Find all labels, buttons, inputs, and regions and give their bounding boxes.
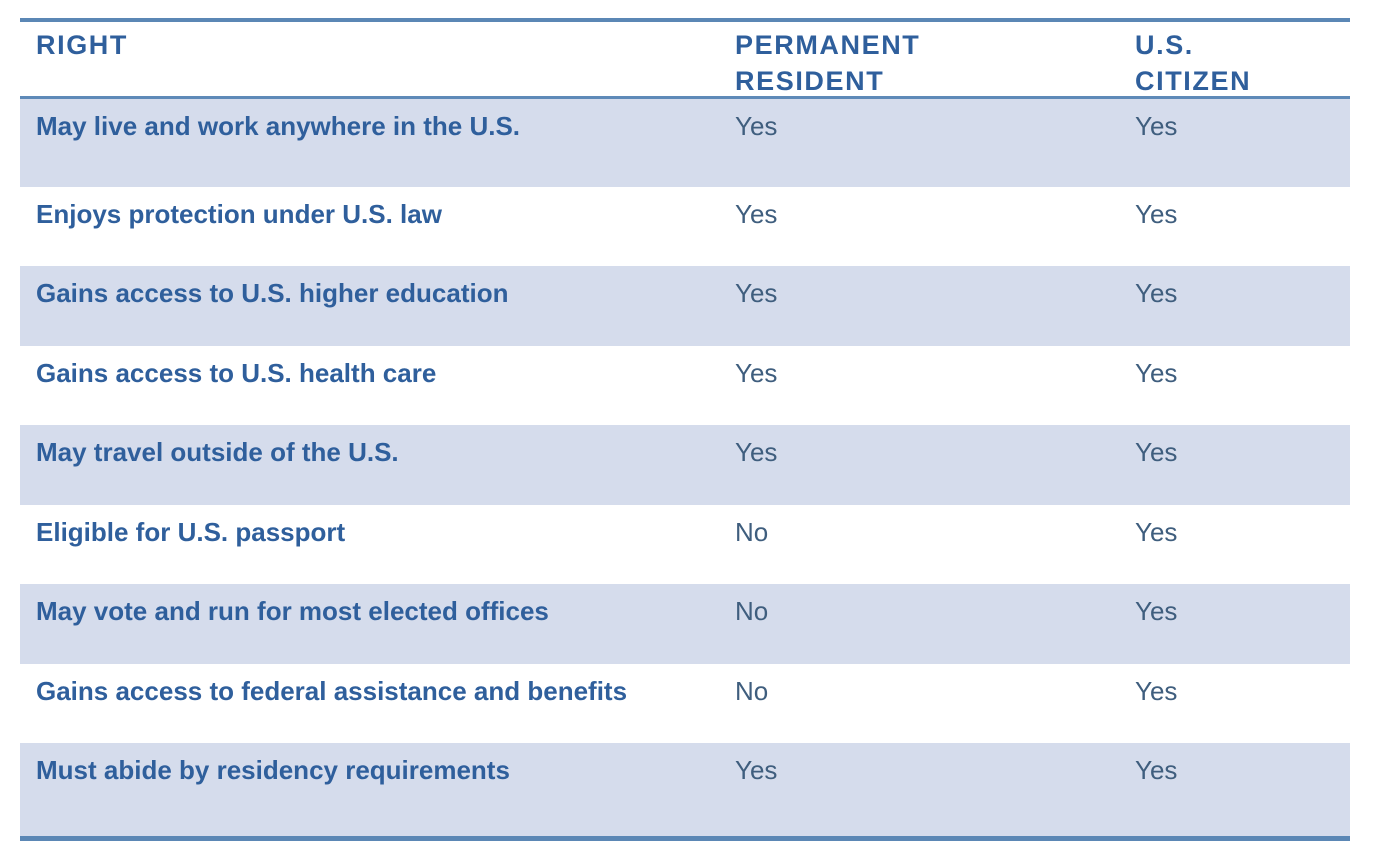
table-bottom-rule bbox=[20, 836, 1350, 841]
row-value-us-citizen: Yes bbox=[1120, 99, 1350, 142]
row-label: Gains access to U.S. higher education bbox=[20, 266, 720, 309]
column-header-permanent-resident: PERMANENT RESIDENT bbox=[720, 22, 1120, 96]
row-label: Must abide by residency requirements bbox=[20, 743, 720, 786]
row-label: May vote and run for most elected office… bbox=[20, 584, 720, 627]
row-value-us-citizen: Yes bbox=[1120, 266, 1350, 309]
table-row: Must abide by residency requirements Yes… bbox=[20, 743, 1350, 836]
row-label: May live and work anywhere in the U.S. bbox=[20, 99, 720, 142]
table-body: May live and work anywhere in the U.S. Y… bbox=[20, 99, 1350, 836]
table-row: Gains access to U.S. health care Yes Yes bbox=[20, 346, 1350, 425]
row-value-permanent-resident: Yes bbox=[720, 187, 1120, 230]
column-header-us-citizen: U.S. CITIZEN bbox=[1120, 22, 1350, 96]
column-header-right: RIGHT bbox=[20, 22, 720, 96]
column-header-us-citizen-line2: CITIZEN bbox=[1135, 64, 1350, 100]
row-value-permanent-resident: Yes bbox=[720, 346, 1120, 389]
row-value-permanent-resident: No bbox=[720, 584, 1120, 627]
rights-comparison-table: RIGHT PERMANENT RESIDENT U.S. CITIZEN Ma… bbox=[20, 18, 1350, 841]
row-value-us-citizen: Yes bbox=[1120, 505, 1350, 548]
row-value-us-citizen: Yes bbox=[1120, 187, 1350, 230]
table-row: May travel outside of the U.S. Yes Yes bbox=[20, 425, 1350, 505]
row-value-permanent-resident: Yes bbox=[720, 743, 1120, 786]
row-value-permanent-resident: Yes bbox=[720, 99, 1120, 142]
row-label: Gains access to U.S. health care bbox=[20, 346, 720, 389]
table-row: Gains access to federal assistance and b… bbox=[20, 664, 1350, 743]
table-row: May vote and run for most elected office… bbox=[20, 584, 1350, 664]
row-value-permanent-resident: No bbox=[720, 505, 1120, 548]
table-row: Gains access to U.S. higher education Ye… bbox=[20, 266, 1350, 346]
column-header-permanent-resident-line1: PERMANENT bbox=[735, 28, 1120, 64]
page-root: RIGHT PERMANENT RESIDENT U.S. CITIZEN Ma… bbox=[0, 0, 1394, 841]
row-value-us-citizen: Yes bbox=[1120, 743, 1350, 786]
table-row: Eligible for U.S. passport No Yes bbox=[20, 505, 1350, 584]
row-value-us-citizen: Yes bbox=[1120, 346, 1350, 389]
table-row: May live and work anywhere in the U.S. Y… bbox=[20, 99, 1350, 187]
row-value-us-citizen: Yes bbox=[1120, 425, 1350, 468]
row-value-us-citizen: Yes bbox=[1120, 584, 1350, 627]
table-row: Enjoys protection under U.S. law Yes Yes bbox=[20, 187, 1350, 266]
row-value-permanent-resident: Yes bbox=[720, 425, 1120, 468]
row-label: Enjoys protection under U.S. law bbox=[20, 187, 720, 230]
row-value-us-citizen: Yes bbox=[1120, 664, 1350, 707]
table-header-row: RIGHT PERMANENT RESIDENT U.S. CITIZEN bbox=[20, 22, 1350, 96]
row-label: Gains access to federal assistance and b… bbox=[20, 664, 720, 707]
row-label: Eligible for U.S. passport bbox=[20, 505, 720, 548]
row-value-permanent-resident: Yes bbox=[720, 266, 1120, 309]
column-header-us-citizen-line1: U.S. bbox=[1135, 28, 1350, 64]
row-label: May travel outside of the U.S. bbox=[20, 425, 720, 468]
row-value-permanent-resident: No bbox=[720, 664, 1120, 707]
column-header-permanent-resident-line2: RESIDENT bbox=[735, 64, 1120, 100]
